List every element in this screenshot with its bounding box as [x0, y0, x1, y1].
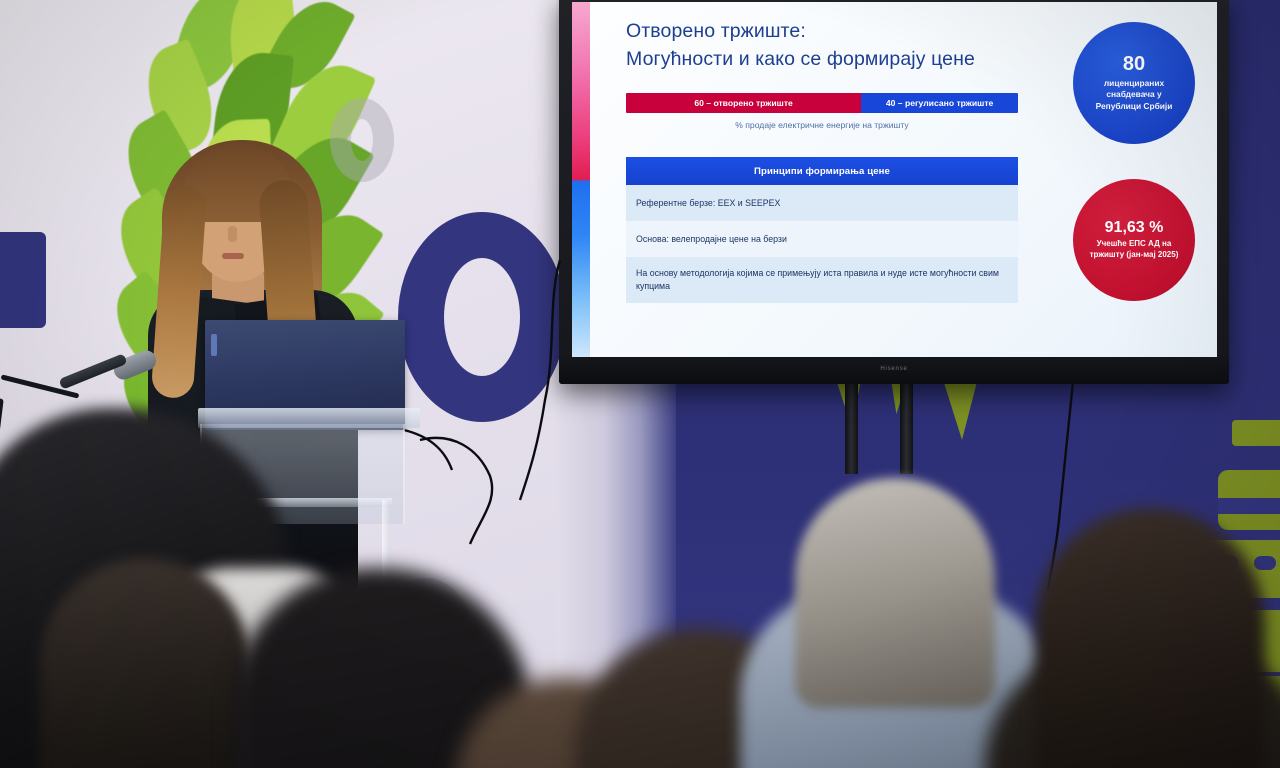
nose [228, 226, 237, 242]
stat-caption: Учешће ЕПС АД на тржишту (јан-мај 2025) [1073, 239, 1195, 260]
mouth [222, 253, 244, 259]
background-letter-o-blue [398, 212, 566, 422]
market-ratio-bar: 60 – отворено тржиште 40 – регулисано тр… [626, 93, 1018, 113]
slide-title-line-1: Отворено тржиште: [626, 20, 806, 42]
navy-band-3 [1254, 556, 1276, 570]
ratio-segment-regulated-market: 40 – регулисано тржиште [861, 93, 1018, 113]
slide-accent-strip [572, 2, 590, 357]
stat-caption: лиценцираних снабдевача у Републици Срби… [1073, 78, 1195, 111]
ratio-bar-caption: % продаје електричне енергије на тржишту [626, 120, 1018, 130]
principles-table-header: Принципи формирања цене [626, 157, 1018, 185]
principles-row: На основу методологија којима се примењу… [626, 257, 1018, 303]
eps-market-share-stat: 91,63 % Учешће ЕПС АД на тржишту (јан-ма… [1073, 179, 1195, 301]
podium-monitor-port [211, 334, 217, 356]
tv-brand-label: Hisense [880, 366, 907, 372]
tv-screen: Отворено тржиште: Могућности и како се ф… [572, 2, 1217, 357]
audience-member-head [1035, 508, 1265, 768]
olive-shape-4 [1232, 420, 1280, 446]
presentation-photo-scene: Hisense Отворено тржиште: Могућности и к… [0, 0, 1280, 768]
principles-row: Основа: велепродајне цене на берзи [626, 221, 1018, 257]
tv-stand-leg-left [845, 378, 858, 474]
presentation-slide: Отворено тржиште: Могућности и како се ф… [572, 2, 1217, 357]
price-principles-table: Принципи формирања цене Референтне берзе… [626, 157, 1018, 303]
stat-value: 91,63 % [1105, 220, 1164, 237]
principles-row: Референтне берзе: EEX и SEEPEX [626, 185, 1018, 221]
wall-mounted-tv: Hisense Отворено тржиште: Могућности и к… [559, 0, 1229, 384]
slide-content: Отворено тржиште: Могућности и како се ф… [590, 2, 1217, 357]
background-letter-fragment [0, 232, 46, 328]
tv-stand-leg-right [900, 378, 913, 474]
navy-band-1 [1218, 498, 1280, 514]
audience-member-head [795, 478, 995, 708]
stat-value: 80 [1123, 54, 1145, 75]
ratio-segment-open-market: 60 – отворено тржиште [626, 93, 861, 113]
licensed-suppliers-stat: 80 лиценцираних снабдевача у Републици С… [1073, 22, 1195, 144]
podium-desktop-surface [198, 408, 420, 428]
audience-member-head [40, 558, 250, 768]
